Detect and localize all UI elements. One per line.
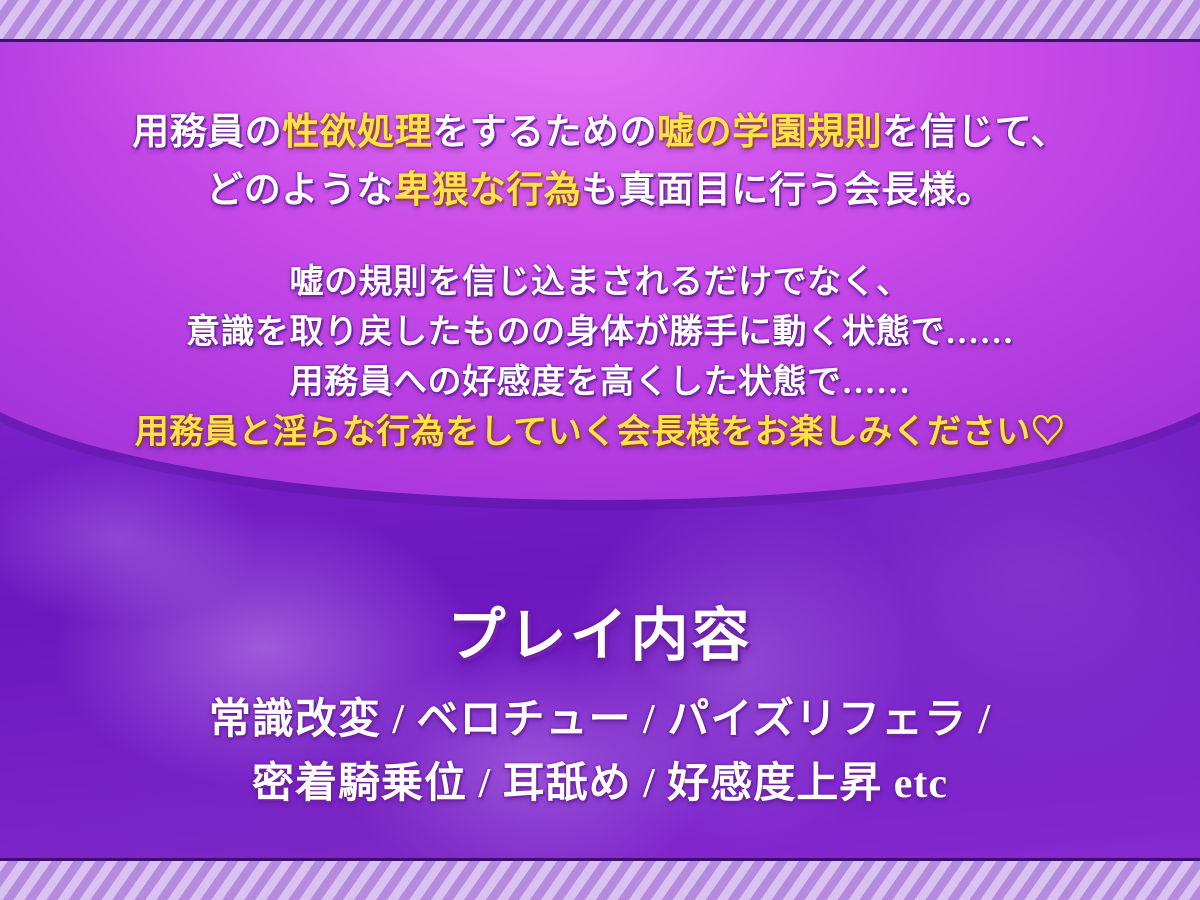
intro-line-2-text-b: も真面目に行う会長様。 (581, 170, 994, 211)
intro-line-1: 用務員の性欲処理をするための嘘の学園規則を信じて、 (0, 104, 1200, 162)
intro-line-1-highlight-a: 性欲処理 (282, 112, 432, 153)
intro-line-2-text-a: どのような (206, 170, 394, 211)
detail-line-4: 用務員と淫らな行為をしていく会長様をお楽しみください♡ (0, 408, 1200, 458)
intro-text-block: 用務員の性欲処理をするための嘘の学園規則を信じて、 どのような卑猥な行為も真面目… (0, 104, 1200, 220)
intro-line-1-text-b: をするための (432, 112, 657, 153)
detail-line-2: 意識を取り戻したものの身体が勝手に動く状態で…… (0, 308, 1200, 358)
play-contents-heading: プレイ内容 (0, 588, 1200, 672)
detail-line-3: 用務員への好感度を高くした状態で…… (0, 358, 1200, 408)
play-tags-line-2: 密着騎乗位 / 耳舐め / 好感度上昇 etc (0, 752, 1200, 816)
promo-banner: 用務員の性欲処理をするための嘘の学園規則を信じて、 どのような卑猥な行為も真面目… (0, 0, 1200, 900)
intro-line-1-text-c: を信じて、 (882, 112, 1068, 153)
play-contents-block: プレイ内容 常識改変 / ベロチュー / パイズリフェラ / 密着騎乗位 / 耳… (0, 588, 1200, 816)
intro-line-1-text-a: 用務員の (132, 112, 282, 153)
top-striped-ribbon (0, 0, 1200, 42)
detail-text-block: 嘘の規則を信じ込まされるだけでなく、 意識を取り戻したものの身体が勝手に動く状態… (0, 258, 1200, 458)
detail-line-1: 嘘の規則を信じ込まされるだけでなく、 (0, 258, 1200, 308)
play-tags-line-1: 常識改変 / ベロチュー / パイズリフェラ / (0, 688, 1200, 752)
bottom-striped-ribbon (0, 858, 1200, 900)
play-contents-tags: 常識改変 / ベロチュー / パイズリフェラ / 密着騎乗位 / 耳舐め / 好… (0, 688, 1200, 816)
intro-line-2-highlight-a: 卑猥な行為 (394, 170, 582, 211)
intro-line-1-highlight-b: 嘘の学園規則 (657, 112, 882, 153)
intro-line-2: どのような卑猥な行為も真面目に行う会長様。 (0, 162, 1200, 220)
